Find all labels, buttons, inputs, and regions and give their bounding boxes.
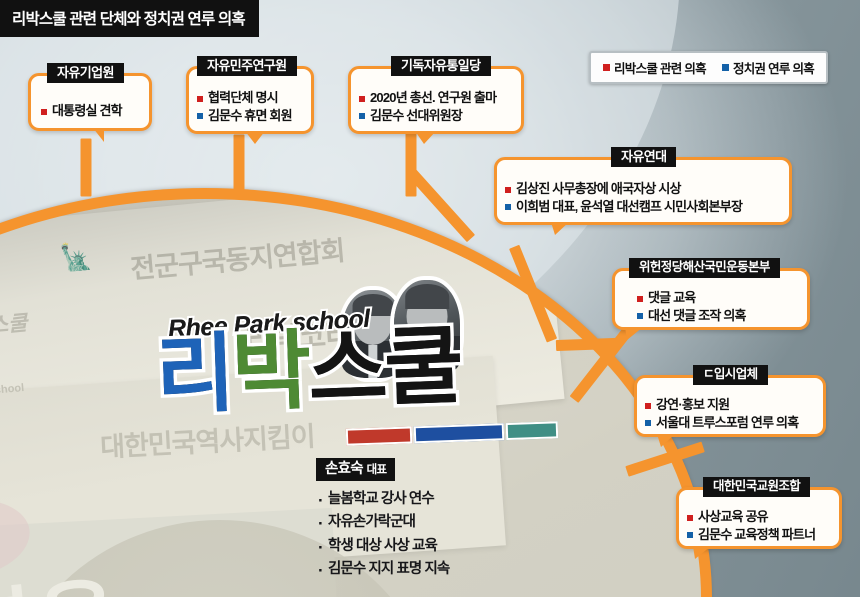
- person-item: 김문수 지지 표명 지속: [318, 558, 449, 581]
- callout-tail: [93, 128, 104, 142]
- callout-tail: [551, 222, 569, 235]
- callout-tail: [625, 327, 643, 340]
- person-title-bar: 손효숙 대표: [316, 458, 395, 481]
- person-role: 대표: [367, 464, 387, 476]
- person-item: 학생 대상 사상 교육: [318, 535, 449, 558]
- person-item-list: 늘봄학교 강사 연수 자유손가락군대 학생 대상 사상 교육 김문수 지지 표명…: [318, 488, 449, 582]
- callout-item: 대선 댓글 조작 의혹: [637, 307, 807, 325]
- callout-jayu-gieobwon[interactable]: 자유기업원 대통령실 견학: [28, 73, 152, 131]
- callout-tail: [693, 546, 711, 559]
- callout-tail: [245, 131, 265, 144]
- person-item: 자유손가락군대: [318, 511, 449, 534]
- callout-title: 자유기업원: [47, 63, 124, 83]
- callout-jayu-yeondae[interactable]: 자유연대 김상진 사무총장에 애국자상 시상 이희범 대표, 윤석열 대선캠프 …: [494, 157, 792, 225]
- legend-label: 정치권 연루 의혹: [733, 58, 814, 77]
- legend-swatch-blue-icon: [722, 64, 729, 71]
- person-name: 손효숙: [325, 461, 363, 477]
- spoke-to-jayu-gieobwon: [81, 139, 92, 197]
- logo-korean-2: 박: [230, 323, 309, 422]
- logo-korean-1: 리: [154, 326, 233, 425]
- callout-item: 강연·홍보 지원: [645, 396, 823, 414]
- callout-item: 댓글 교육: [637, 289, 807, 307]
- callout-title: 자유연대: [611, 147, 676, 167]
- callout-item: 사상교육 공유: [687, 508, 839, 526]
- person-item: 늘봄학교 강사 연수: [318, 488, 449, 511]
- callout-tail: [415, 131, 436, 144]
- callout-title: 위헌정당해산국민운동본부: [629, 258, 780, 278]
- callout-tail: [657, 434, 675, 447]
- infographic-canvas: 🗽 전군구국동지연합회 리박코리아 대한민국역사지킴이 리박스쿨 Rhee Pa…: [0, 0, 860, 597]
- callout-item: 대통령실 견학: [41, 102, 149, 120]
- page-title: 리박스쿨 관련 단체와 정치권 연루 의혹: [0, 0, 259, 37]
- callout-jayu-minju-yeonguwon[interactable]: 자유민주연구원 협력단체 명시 김문수 휴면 회원: [186, 66, 314, 134]
- callout-item: 이희범 대표, 윤석열 대선캠프 시민사회본부장: [505, 198, 789, 216]
- spoke-to-wiheon-horizontal: [556, 338, 618, 351]
- callout-gidok-jayu-tongildang[interactable]: 기독자유통일당 2020년 총선. 연구원 출마 김문수 선대위원장: [348, 66, 524, 134]
- callout-item: 김상진 사무총장에 애국자상 시상: [505, 180, 789, 198]
- rhee-park-school-logo: Rhee Park school Rhee Park school 리박스쿨 리…: [150, 300, 480, 465]
- callout-title: 기독자유통일당: [391, 56, 491, 76]
- logo-korean-3: 스쿨: [307, 318, 463, 419]
- callout-ipsi-eopche[interactable]: ㄷ입시업체 강연·홍보 지원 서울대 트루스포럼 연루 의혹: [634, 375, 826, 437]
- legend-item-blue: 정치권 연루 의혹: [722, 58, 814, 77]
- callout-title: ㄷ입시업체: [693, 365, 768, 385]
- legend-swatch-red-icon: [603, 64, 610, 71]
- person-block-son-hyosuk: 손효숙 대표 늘봄학교 강사 연수 자유손가락군대 학생 대상 사상 교육 김문…: [316, 458, 449, 582]
- callout-wiheon-jeongdang-haesan[interactable]: 위헌정당해산국민운동본부 댓글 교육 대선 댓글 조작 의혹: [612, 268, 810, 330]
- legend: 리박스쿨 관련 의혹 정치권 연루 의혹: [589, 51, 828, 84]
- callout-item: 김문수 휴면 회원: [197, 107, 311, 125]
- callout-item: 서울대 트루스포럼 연루 의혹: [645, 414, 823, 432]
- callout-item: 김문수 교육정책 파트너: [687, 526, 839, 544]
- spoke-to-jayu-minju: [234, 135, 245, 191]
- callout-item: 2020년 총선. 연구원 출마: [359, 89, 521, 107]
- callout-daehanminguk-gyowon-johap[interactable]: 대한민국교원조합 사상교육 공유 김문수 교육정책 파트너: [676, 487, 842, 549]
- logo-korean: 리박스쿨 리박스쿨: [155, 323, 462, 420]
- callout-item: 김문수 선대위원장: [359, 107, 521, 125]
- callout-title: 대한민국교원조합: [703, 477, 810, 497]
- callout-item: 협력단체 명시: [197, 89, 311, 107]
- callout-title: 자유민주연구원: [197, 56, 297, 76]
- legend-label: 리박스쿨 관련 의혹: [614, 58, 706, 77]
- legend-item-red: 리박스쿨 관련 의혹: [603, 58, 706, 77]
